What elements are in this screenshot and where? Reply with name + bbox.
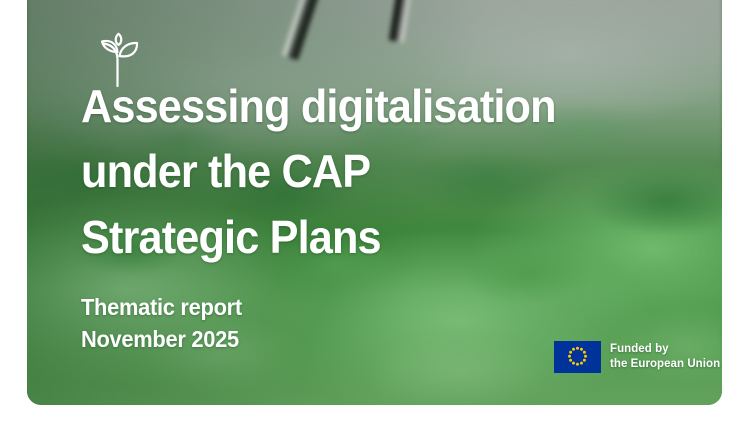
report-cover-page: Assessing digitalisation under the CAP S… bbox=[0, 0, 750, 439]
page-title: Assessing digitalisation under the CAP S… bbox=[81, 74, 645, 270]
cover-subtitle: Thematic report November 2025 bbox=[81, 291, 242, 356]
eu-funding-label: Funded by the European Union bbox=[610, 342, 720, 371]
eu-funding-lockup: Funded by the European Union bbox=[554, 341, 720, 373]
cover-content: Assessing digitalisation under the CAP S… bbox=[27, 0, 722, 405]
cover-photo-card: Assessing digitalisation under the CAP S… bbox=[27, 0, 722, 405]
eu-flag-icon bbox=[554, 341, 601, 373]
